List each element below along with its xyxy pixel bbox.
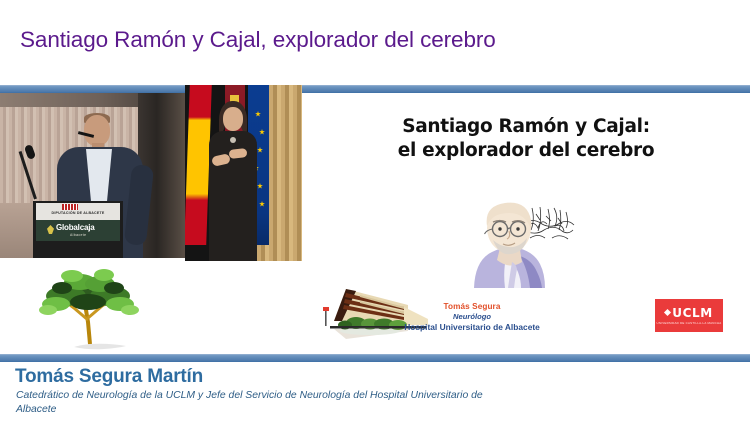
slide-title-line-1: Santiago Ramón y Cajal: [302, 115, 750, 139]
frame-bottom-bar [0, 354, 750, 362]
uclm-wordmark: UCLM [672, 306, 713, 320]
slide-title: Santiago Ramón y Cajal: el explorador de… [302, 115, 750, 162]
uclm-subtitle: UNIVERSIDAD DE CASTILLA-LA MANCHA [657, 321, 722, 325]
tree-illustration-icon [0, 258, 185, 354]
presentation-page: Santiago Ramón y Cajal, explorador del c… [0, 0, 750, 422]
tree-panel [0, 258, 185, 354]
sign-language-interpreter-video[interactable] [185, 85, 302, 261]
interpreter-head [223, 107, 243, 131]
slide[interactable]: Curso 2025-2026 Santiago Ramón y Cajal: … [302, 93, 750, 354]
uclm-diamond-icon [664, 309, 671, 316]
credit-organization: Hospital Universitario de Albacete [322, 322, 622, 333]
credit-role: Neurólogo [322, 312, 622, 322]
slide-credit: Tomás Segura Neurólogo Hospital Universi… [322, 301, 622, 334]
cajal-portrait-image [460, 198, 580, 290]
uclm-logo-row: UCLM [665, 306, 713, 320]
frame-top-bar [0, 85, 750, 93]
podium-brand-label: Globalcaja [56, 223, 94, 232]
speaker-head [84, 115, 110, 146]
footer-speaker-role: Catedrático de Neurología de la UCLM y J… [16, 389, 516, 417]
podium-sign-upper-label: DIPUTACIÓN DE ALBACETE [36, 211, 120, 215]
page-title: Santiago Ramón y Cajal, explorador del c… [20, 27, 496, 53]
stage: DIPUTACIÓN DE ALBACETE Globalcaja Albace… [0, 93, 750, 354]
credit-name: Tomás Segura [322, 301, 622, 312]
albacete-emblem-icon [62, 204, 78, 210]
podium-brand-sublabel: Albacete [70, 233, 86, 237]
video-column: DIPUTACIÓN DE ALBACETE Globalcaja Albace… [0, 93, 185, 354]
footer-speaker-name: Tomás Segura Martín [15, 366, 203, 388]
interpreter-necklace [230, 137, 236, 143]
content-frame: DIPUTACIÓN DE ALBACETE Globalcaja Albace… [0, 85, 750, 362]
page-header: Santiago Ramón y Cajal, explorador del c… [0, 0, 750, 85]
page-footer: Tomás Segura Martín Catedrático de Neuro… [0, 362, 750, 422]
slide-title-line-2: el explorador del cerebro [302, 139, 750, 163]
uclm-logo: UCLM UNIVERSIDAD DE CASTILLA-LA MANCHA [655, 299, 723, 332]
speaker-podium-video[interactable]: DIPUTACIÓN DE ALBACETE Globalcaja Albace… [0, 93, 185, 258]
